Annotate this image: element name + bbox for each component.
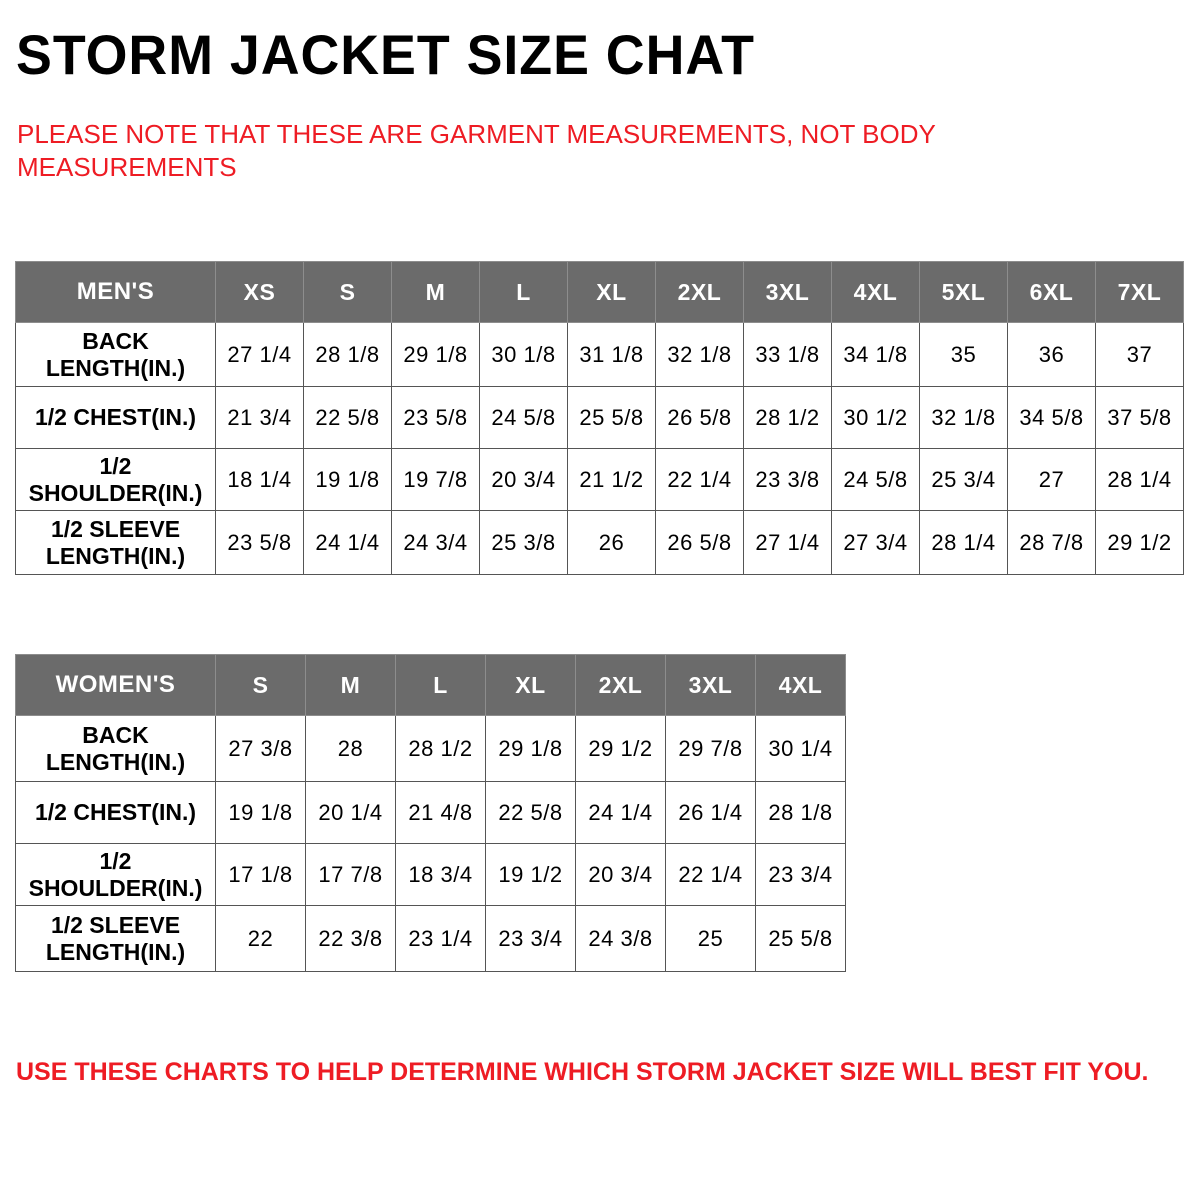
- table-cell: 30 1/2: [832, 387, 920, 449]
- womens-col-3xl: 3XL: [666, 655, 756, 716]
- table-cell: 24 3/8: [576, 906, 666, 972]
- mens-table-body: BACK LENGTH(IN.) 27 1/4 28 1/8 29 1/8 30…: [16, 323, 1184, 575]
- womens-row-label-half-chest: 1/2 CHEST(IN.): [16, 782, 216, 844]
- table-cell: 34 5/8: [1008, 387, 1096, 449]
- table-cell: 27 3/4: [832, 511, 920, 575]
- table-cell: 29 1/2: [576, 716, 666, 782]
- table-cell: 28 7/8: [1008, 511, 1096, 575]
- mens-row-label-back-length: BACK LENGTH(IN.): [16, 323, 216, 387]
- table-cell: 28: [306, 716, 396, 782]
- table-cell: 22: [216, 906, 306, 972]
- mens-col-m: M: [392, 262, 480, 323]
- table-cell: 28 1/2: [396, 716, 486, 782]
- table-cell: 28 1/8: [304, 323, 392, 387]
- table-cell: 19 1/8: [216, 782, 306, 844]
- womens-row-label-half-shoulder: 1/2 SHOULDER(IN.): [16, 844, 216, 906]
- page-title: STORM JACKET SIZE CHAT: [16, 24, 755, 86]
- table-row: 1/2 SLEEVE LENGTH(IN.) 23 5/8 24 1/4 24 …: [16, 511, 1184, 575]
- mens-col-xl: XL: [568, 262, 656, 323]
- table-cell: 28 1/8: [756, 782, 846, 844]
- mens-col-xs: XS: [216, 262, 304, 323]
- garment-measurement-notice: PLEASE NOTE THAT THESE ARE GARMENT MEASU…: [17, 118, 977, 184]
- usage-notice: USE THESE CHARTS TO HELP DETERMINE WHICH…: [16, 1057, 1176, 1087]
- table-cell: 37: [1096, 323, 1184, 387]
- womens-table-header: WOMEN'S S M L XL 2XL 3XL 4XL: [16, 655, 846, 716]
- womens-row-label-half-sleeve: 1/2 SLEEVE LENGTH(IN.): [16, 906, 216, 972]
- table-cell: 25: [666, 906, 756, 972]
- table-cell: 25 5/8: [568, 387, 656, 449]
- table-cell: 32 1/8: [920, 387, 1008, 449]
- table-cell: 21 4/8: [396, 782, 486, 844]
- table-header-row: WOMEN'S S M L XL 2XL 3XL 4XL: [16, 655, 846, 716]
- table-cell: 27: [1008, 449, 1096, 511]
- table-cell: 23 3/4: [486, 906, 576, 972]
- table-cell: 26: [568, 511, 656, 575]
- table-row: 1/2 CHEST(IN.) 19 1/8 20 1/4 21 4/8 22 5…: [16, 782, 846, 844]
- table-cell: 29 1/8: [392, 323, 480, 387]
- table-cell: 24 1/4: [304, 511, 392, 575]
- table-cell: 29 1/2: [1096, 511, 1184, 575]
- table-cell: 28 1/4: [1096, 449, 1184, 511]
- table-cell: 26 5/8: [656, 387, 744, 449]
- table-cell: 22 3/8: [306, 906, 396, 972]
- table-cell: 24 1/4: [576, 782, 666, 844]
- mens-col-6xl: 6XL: [1008, 262, 1096, 323]
- table-cell: 24 5/8: [480, 387, 568, 449]
- womens-col-s: S: [216, 655, 306, 716]
- table-cell: 20 3/4: [576, 844, 666, 906]
- womens-col-2xl: 2XL: [576, 655, 666, 716]
- table-cell: 32 1/8: [656, 323, 744, 387]
- table-cell: 23 5/8: [392, 387, 480, 449]
- table-cell: 18 1/4: [216, 449, 304, 511]
- womens-col-4xl: 4XL: [756, 655, 846, 716]
- table-row: 1/2 SHOULDER(IN.) 17 1/8 17 7/8 18 3/4 1…: [16, 844, 846, 906]
- womens-col-xl: XL: [486, 655, 576, 716]
- womens-col-m: M: [306, 655, 396, 716]
- table-cell: 19 1/2: [486, 844, 576, 906]
- table-cell: 20 1/4: [306, 782, 396, 844]
- table-cell: 22 1/4: [666, 844, 756, 906]
- table-cell: 34 1/8: [832, 323, 920, 387]
- table-cell: 36: [1008, 323, 1096, 387]
- womens-corner-label: WOMEN'S: [16, 655, 216, 716]
- mens-row-label-half-chest: 1/2 CHEST(IN.): [16, 387, 216, 449]
- table-row: 1/2 SHOULDER(IN.) 18 1/4 19 1/8 19 7/8 2…: [16, 449, 1184, 511]
- mens-table-header: MEN'S XS S M L XL 2XL 3XL 4XL 5XL 6XL 7X…: [16, 262, 1184, 323]
- table-cell: 22 5/8: [304, 387, 392, 449]
- table-cell: 29 7/8: [666, 716, 756, 782]
- womens-col-l: L: [396, 655, 486, 716]
- table-header-row: MEN'S XS S M L XL 2XL 3XL 4XL 5XL 6XL 7X…: [16, 262, 1184, 323]
- mens-row-label-half-shoulder: 1/2 SHOULDER(IN.): [16, 449, 216, 511]
- table-cell: 21 1/2: [568, 449, 656, 511]
- mens-size-table: MEN'S XS S M L XL 2XL 3XL 4XL 5XL 6XL 7X…: [15, 261, 1184, 575]
- table-cell: 27 1/4: [216, 323, 304, 387]
- table-cell: 24 5/8: [832, 449, 920, 511]
- table-cell: 25 3/8: [480, 511, 568, 575]
- table-row: BACK LENGTH(IN.) 27 3/8 28 28 1/2 29 1/8…: [16, 716, 846, 782]
- table-cell: 33 1/8: [744, 323, 832, 387]
- table-cell: 26 5/8: [656, 511, 744, 575]
- table-cell: 26 1/4: [666, 782, 756, 844]
- womens-table-body: BACK LENGTH(IN.) 27 3/8 28 28 1/2 29 1/8…: [16, 716, 846, 972]
- table-cell: 24 3/4: [392, 511, 480, 575]
- mens-row-label-half-sleeve: 1/2 SLEEVE LENGTH(IN.): [16, 511, 216, 575]
- womens-row-label-back-length: BACK LENGTH(IN.): [16, 716, 216, 782]
- table-cell: 37 5/8: [1096, 387, 1184, 449]
- mens-col-s: S: [304, 262, 392, 323]
- table-cell: 22 5/8: [486, 782, 576, 844]
- mens-col-l: L: [480, 262, 568, 323]
- table-cell: 22 1/4: [656, 449, 744, 511]
- table-cell: 35: [920, 323, 1008, 387]
- table-cell: 28 1/2: [744, 387, 832, 449]
- table-cell: 31 1/8: [568, 323, 656, 387]
- table-cell: 23 3/8: [744, 449, 832, 511]
- womens-size-table: WOMEN'S S M L XL 2XL 3XL 4XL BACK LENGTH…: [15, 654, 846, 972]
- mens-col-4xl: 4XL: [832, 262, 920, 323]
- table-cell: 17 7/8: [306, 844, 396, 906]
- table-cell: 27 3/8: [216, 716, 306, 782]
- table-row: 1/2 CHEST(IN.) 21 3/4 22 5/8 23 5/8 24 5…: [16, 387, 1184, 449]
- table-cell: 30 1/4: [756, 716, 846, 782]
- table-row: 1/2 SLEEVE LENGTH(IN.) 22 22 3/8 23 1/4 …: [16, 906, 846, 972]
- mens-col-5xl: 5XL: [920, 262, 1008, 323]
- table-cell: 19 1/8: [304, 449, 392, 511]
- table-cell: 30 1/8: [480, 323, 568, 387]
- size-chart-page: STORM JACKET SIZE CHAT PLEASE NOTE THAT …: [0, 0, 1200, 1200]
- table-cell: 25 5/8: [756, 906, 846, 972]
- table-cell: 23 5/8: [216, 511, 304, 575]
- mens-corner-label: MEN'S: [16, 262, 216, 323]
- table-cell: 21 3/4: [216, 387, 304, 449]
- table-cell: 17 1/8: [216, 844, 306, 906]
- mens-col-3xl: 3XL: [744, 262, 832, 323]
- table-cell: 25 3/4: [920, 449, 1008, 511]
- mens-col-2xl: 2XL: [656, 262, 744, 323]
- table-row: BACK LENGTH(IN.) 27 1/4 28 1/8 29 1/8 30…: [16, 323, 1184, 387]
- table-cell: 18 3/4: [396, 844, 486, 906]
- table-cell: 28 1/4: [920, 511, 1008, 575]
- table-cell: 23 3/4: [756, 844, 846, 906]
- table-cell: 20 3/4: [480, 449, 568, 511]
- table-cell: 29 1/8: [486, 716, 576, 782]
- table-cell: 27 1/4: [744, 511, 832, 575]
- table-cell: 19 7/8: [392, 449, 480, 511]
- table-cell: 23 1/4: [396, 906, 486, 972]
- mens-col-7xl: 7XL: [1096, 262, 1184, 323]
